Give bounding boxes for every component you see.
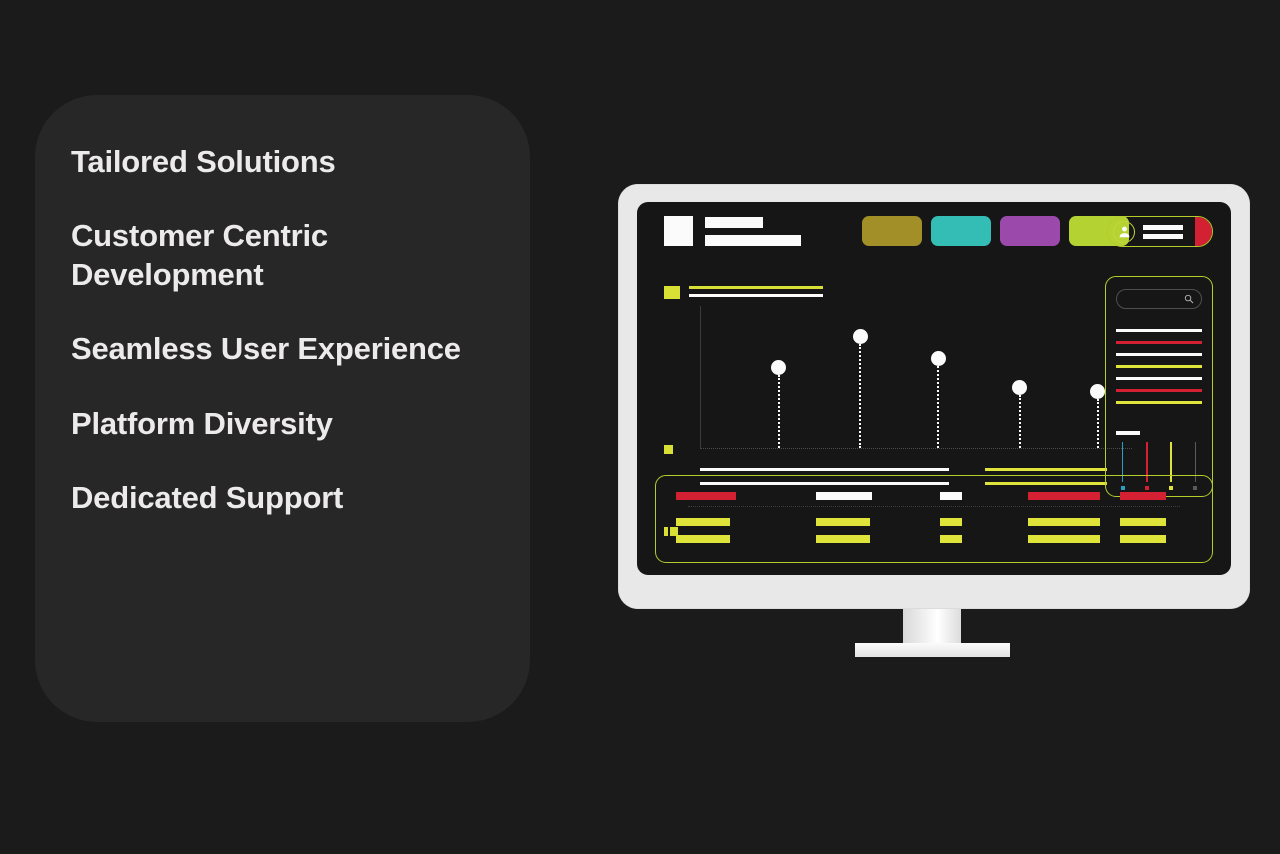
table-cell bbox=[1028, 518, 1120, 526]
side-panel-row[interactable] bbox=[1116, 377, 1202, 380]
table-header-bar bbox=[940, 492, 962, 500]
profile-accent-badge bbox=[1195, 217, 1212, 246]
chart-marker-dot bbox=[853, 329, 868, 344]
profile-text-placeholder bbox=[1143, 225, 1183, 239]
table-row[interactable] bbox=[676, 535, 1192, 543]
chart-marker-stem bbox=[937, 366, 939, 448]
chart-marker-dot bbox=[1090, 384, 1105, 399]
table-cell bbox=[816, 535, 940, 543]
chart-marker[interactable] bbox=[771, 360, 786, 448]
summary-line-accent bbox=[985, 468, 1107, 471]
table-header-bar bbox=[816, 492, 872, 500]
table-header-bar bbox=[1120, 492, 1166, 500]
table-cell-bar bbox=[816, 518, 870, 526]
side-panel-row[interactable] bbox=[1116, 329, 1202, 332]
nav-pill-purple[interactable] bbox=[1000, 216, 1060, 246]
table-cell-bar bbox=[676, 518, 730, 526]
nav-pill-olive[interactable] bbox=[862, 216, 922, 246]
table-cell-bar bbox=[1028, 518, 1100, 526]
table-header-bar bbox=[676, 492, 736, 500]
monitor-screen bbox=[637, 202, 1231, 575]
table-cell-bar bbox=[1028, 535, 1100, 543]
chart-marker-stem bbox=[1097, 399, 1099, 448]
side-panel-row[interactable] bbox=[1116, 353, 1202, 356]
chart-marker[interactable] bbox=[931, 351, 946, 448]
section-heading bbox=[664, 286, 823, 299]
side-panel-row[interactable] bbox=[1116, 365, 1202, 368]
side-panel-row[interactable] bbox=[1116, 341, 1202, 344]
nav-pill-teal[interactable] bbox=[931, 216, 991, 246]
data-table-card bbox=[655, 475, 1213, 563]
monitor-stand-neck bbox=[903, 609, 961, 645]
table-cell bbox=[940, 535, 1028, 543]
chart-marker-stem bbox=[1019, 395, 1021, 448]
feature-item-platform-diversity: Platform Diversity bbox=[71, 405, 470, 443]
profile-line-2 bbox=[1143, 234, 1183, 239]
summary-line bbox=[700, 468, 949, 471]
chart-marker-stem bbox=[778, 375, 780, 448]
table-cell-bar bbox=[1120, 518, 1166, 526]
table-cell bbox=[1120, 518, 1180, 526]
user-avatar-icon bbox=[1118, 225, 1131, 238]
logo-text-placeholder bbox=[705, 217, 801, 246]
profile-chip[interactable] bbox=[1107, 216, 1213, 247]
table-cell bbox=[940, 518, 1028, 526]
table-header-cell bbox=[940, 492, 1028, 500]
slide-canvas: Tailored Solutions Customer Centric Deve… bbox=[0, 0, 1280, 854]
nav-pill-group bbox=[862, 216, 1129, 246]
logo-text-line-2 bbox=[705, 235, 801, 246]
table-cell-bar bbox=[676, 535, 730, 543]
side-panel-row-list bbox=[1116, 329, 1202, 404]
chart-tick-baseline bbox=[664, 445, 673, 454]
table-divider bbox=[688, 506, 1180, 507]
dashboard-header bbox=[637, 202, 1231, 260]
table-header-bar bbox=[1028, 492, 1100, 500]
chart-marker-dot bbox=[771, 360, 786, 375]
dashboard-logo[interactable] bbox=[664, 216, 801, 246]
logo-mark-icon bbox=[664, 216, 693, 246]
chart-marker[interactable] bbox=[1090, 384, 1105, 448]
table-cell-bar bbox=[816, 535, 870, 543]
table-header-cell bbox=[1120, 492, 1180, 500]
feature-card: Tailored Solutions Customer Centric Deve… bbox=[35, 95, 530, 722]
table-cell bbox=[1028, 535, 1120, 543]
table-header-cell bbox=[676, 492, 816, 500]
section-swatch-icon bbox=[664, 286, 680, 299]
table-cell bbox=[676, 535, 816, 543]
side-panel bbox=[1105, 276, 1213, 497]
avatar bbox=[1113, 221, 1135, 243]
chart-marker-dot bbox=[1012, 380, 1027, 395]
side-panel-row[interactable] bbox=[1116, 389, 1202, 392]
feature-item-tailored-solutions: Tailored Solutions bbox=[71, 143, 470, 181]
section-heading-lines bbox=[689, 286, 823, 297]
search-input[interactable] bbox=[1116, 289, 1202, 309]
table-cell bbox=[1120, 535, 1180, 543]
chart-marker[interactable] bbox=[853, 329, 868, 448]
table-row[interactable] bbox=[676, 518, 1192, 526]
search-icon bbox=[1184, 294, 1194, 304]
table-cell-bar bbox=[1120, 535, 1166, 543]
chart-marker[interactable] bbox=[1012, 380, 1027, 448]
table-header-cell bbox=[816, 492, 940, 500]
chart-marker-dot bbox=[931, 351, 946, 366]
table-cell bbox=[816, 518, 940, 526]
feature-list: Tailored Solutions Customer Centric Deve… bbox=[71, 143, 470, 518]
table-cell bbox=[676, 518, 816, 526]
monitor-stand-base bbox=[855, 643, 1010, 657]
section-subtitle-placeholder bbox=[689, 294, 823, 297]
table-header-row bbox=[676, 492, 1192, 500]
feature-item-customer-centric-development: Customer Centric Development bbox=[71, 217, 470, 294]
monitor-illustration bbox=[618, 184, 1250, 609]
table-cell-bar bbox=[940, 518, 962, 526]
feature-item-dedicated-support: Dedicated Support bbox=[71, 479, 470, 517]
side-panel-row[interactable] bbox=[1116, 401, 1202, 404]
table-header-cell bbox=[1028, 492, 1120, 500]
side-panel-footer-label bbox=[1116, 431, 1140, 435]
chart-marker-stem bbox=[859, 344, 861, 448]
table-cell-bar bbox=[940, 535, 962, 543]
lollipop-chart bbox=[700, 306, 1132, 449]
logo-text-line-1 bbox=[705, 217, 763, 228]
feature-item-seamless-user-experience: Seamless User Experience bbox=[71, 330, 470, 368]
section-title-placeholder bbox=[689, 286, 823, 289]
profile-line-1 bbox=[1143, 225, 1183, 230]
